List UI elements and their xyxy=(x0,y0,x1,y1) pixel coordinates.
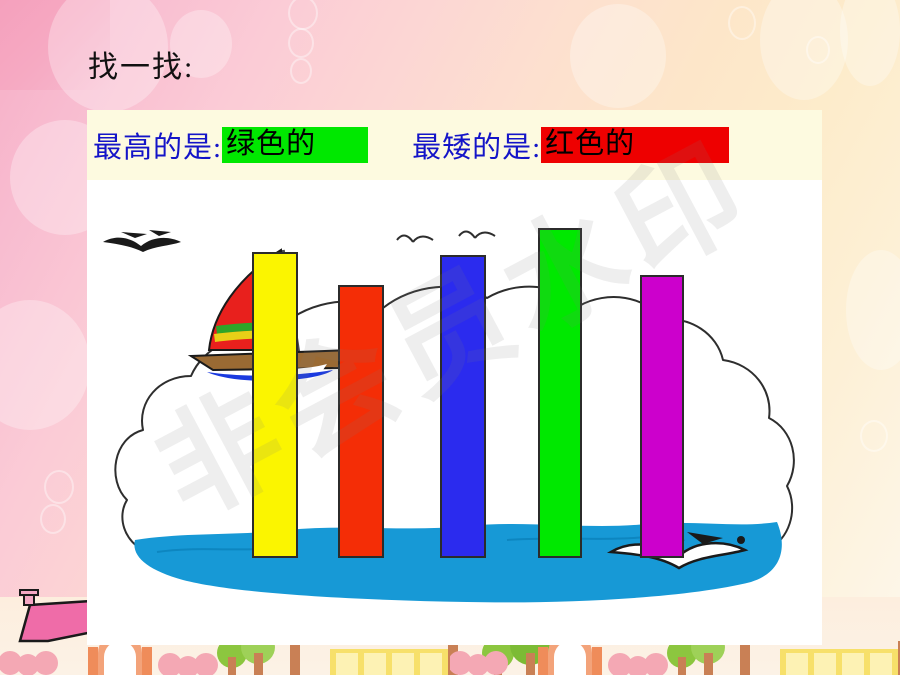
bar-blue[interactable] xyxy=(440,255,486,558)
bubble-decor xyxy=(290,58,312,84)
bubble-decor xyxy=(44,470,74,504)
shortest-label: 最矮的是: xyxy=(412,124,541,166)
bird-small-a-icon xyxy=(397,236,433,242)
bubble-decor xyxy=(40,504,66,534)
bar-magenta[interactable] xyxy=(640,275,684,558)
content-panel: 最高的是: 绿色的 最矮的是: 红色的 xyxy=(87,110,822,645)
illustration-canvas xyxy=(87,180,822,645)
seagull-left-icon xyxy=(103,230,181,252)
bar-red[interactable] xyxy=(338,285,384,558)
tallest-question-block: 最高的是: 绿色的 xyxy=(93,124,368,166)
tallest-label: 最高的是: xyxy=(93,124,222,166)
page-title: 找一找: xyxy=(88,42,194,86)
bubble-decor xyxy=(570,4,666,108)
bird-small-b-icon xyxy=(459,232,495,238)
bubble-decor xyxy=(288,28,314,58)
shortest-answer-badge[interactable]: 红色的 xyxy=(541,127,729,163)
bubble-decor xyxy=(860,420,888,452)
bar-yellow[interactable] xyxy=(252,252,298,558)
shortest-question-block: 最矮的是: 红色的 xyxy=(412,124,729,166)
slide-root: 找一找: 最高的是: 绿色的 最矮的是: 红色的 xyxy=(0,0,900,675)
bar-green[interactable] xyxy=(538,228,582,558)
question-row: 最高的是: 绿色的 最矮的是: 红色的 xyxy=(87,110,822,180)
tallest-answer-badge[interactable]: 绿色的 xyxy=(222,127,368,163)
bubble-decor xyxy=(806,36,830,64)
bubble-decor xyxy=(728,6,756,40)
